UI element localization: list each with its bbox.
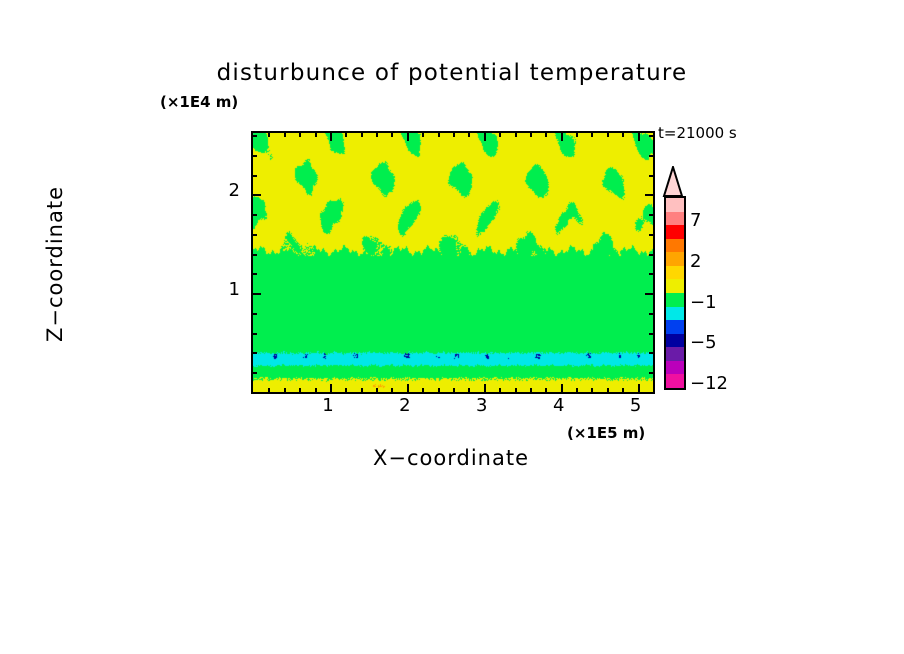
axis-tick	[252, 273, 257, 275]
axis-tick	[576, 132, 578, 137]
colorbar-tick-label: 2	[690, 251, 701, 272]
axis-tick	[561, 132, 563, 141]
axis-tick	[252, 214, 257, 216]
axis-tick	[284, 388, 286, 393]
colorbar-band	[666, 279, 684, 293]
axis-tick	[252, 175, 257, 177]
axis-tick	[649, 175, 654, 177]
axis-tick	[422, 388, 424, 393]
axis-tick	[330, 132, 332, 141]
colorbar-band	[666, 334, 684, 348]
axis-tick	[407, 132, 409, 141]
axis-tick	[407, 384, 409, 393]
axis-tick	[252, 372, 257, 374]
colorbar-band	[666, 252, 684, 266]
colorbar-band	[666, 266, 684, 280]
axis-tick	[645, 194, 654, 196]
axis-tick	[530, 388, 532, 393]
axis-tick	[607, 132, 609, 137]
axis-tick	[649, 313, 654, 315]
axis-tick	[376, 132, 378, 137]
colorbar-tick-label: 7	[690, 210, 701, 231]
x-axis-title: X−coordinate	[251, 446, 651, 470]
axis-tick	[530, 132, 532, 137]
axis-tick	[561, 384, 563, 393]
axis-tick	[576, 388, 578, 393]
axis-tick	[284, 132, 286, 137]
colorbar-band	[666, 320, 684, 334]
axis-tick	[268, 388, 270, 393]
axis-tick	[252, 313, 257, 315]
axis-tick	[468, 388, 470, 393]
page-title: disturbunce of potential temperature	[0, 60, 904, 86]
axis-tick	[252, 155, 257, 157]
axis-tick	[545, 388, 547, 393]
axis-tick	[345, 388, 347, 393]
axis-tick	[607, 388, 609, 393]
colorbar	[664, 196, 686, 390]
x-tick-label: 5	[621, 395, 651, 416]
colorbar-tick-label: −1	[690, 292, 717, 313]
axis-tick	[515, 388, 517, 393]
axis-tick	[591, 388, 593, 393]
axis-tick	[315, 388, 317, 393]
axis-tick	[638, 132, 640, 141]
colorbar-band	[666, 361, 684, 375]
axis-tick	[468, 132, 470, 137]
axis-tick	[649, 254, 654, 256]
axis-tick	[330, 384, 332, 393]
axis-tick	[438, 388, 440, 393]
colorbar-band	[666, 198, 684, 212]
axis-tick	[515, 132, 517, 137]
axis-tick	[638, 384, 640, 393]
axis-tick	[649, 273, 654, 275]
y-tick-label: 1	[218, 279, 240, 300]
axis-tick	[299, 388, 301, 393]
axis-tick	[649, 135, 654, 137]
axis-tick	[391, 388, 393, 393]
axis-tick	[252, 352, 257, 354]
axis-tick	[649, 352, 654, 354]
x-tick-label: 3	[467, 395, 497, 416]
colorbar-band	[666, 347, 684, 361]
colorbar-band	[666, 307, 684, 321]
contour-field-canvas	[253, 133, 653, 392]
axis-tick	[376, 388, 378, 393]
axis-tick	[422, 132, 424, 137]
colorbar-band	[666, 374, 684, 388]
colorbar-arrow-icon	[662, 166, 684, 197]
axis-tick	[649, 234, 654, 236]
axis-tick	[453, 388, 455, 393]
colorbar-band	[666, 239, 684, 253]
axis-tick	[252, 135, 257, 137]
colorbar-tick-label: −12	[690, 373, 728, 394]
time-annotation: t=21000 s	[658, 124, 737, 142]
axis-tick	[252, 293, 261, 295]
colorbar-band	[666, 293, 684, 307]
axis-tick	[649, 372, 654, 374]
axis-tick	[361, 388, 363, 393]
y-axis-title: Z−coordinate	[43, 134, 67, 394]
axis-tick	[252, 234, 257, 236]
axis-tick	[252, 254, 257, 256]
axis-tick	[268, 132, 270, 137]
axis-tick	[299, 132, 301, 137]
axis-tick	[315, 132, 317, 137]
y-tick-label: 2	[218, 180, 240, 201]
axis-tick	[438, 132, 440, 137]
axis-tick	[252, 194, 261, 196]
axis-tick	[391, 132, 393, 137]
axis-tick	[622, 388, 624, 393]
axis-tick	[591, 132, 593, 137]
z-axis-unit-label: (×1E4 m)	[160, 93, 238, 111]
axis-tick	[361, 132, 363, 137]
colorbar-tick-label: −5	[690, 332, 717, 353]
axis-tick	[499, 388, 501, 393]
x-tick-label: 1	[313, 395, 343, 416]
axis-tick	[499, 132, 501, 137]
x-axis-unit-label: (×1E5 m)	[567, 424, 645, 442]
axis-tick	[622, 132, 624, 137]
axis-tick	[649, 333, 654, 335]
axis-tick	[645, 293, 654, 295]
axis-tick	[649, 214, 654, 216]
axis-tick	[453, 132, 455, 137]
axis-tick	[484, 384, 486, 393]
colorbar-band	[666, 212, 684, 226]
x-tick-label: 2	[390, 395, 420, 416]
axis-tick	[252, 333, 257, 335]
contour-plot-area	[251, 131, 655, 394]
axis-tick	[484, 132, 486, 141]
colorbar-band	[666, 225, 684, 239]
axis-tick	[545, 132, 547, 137]
axis-tick	[345, 132, 347, 137]
x-tick-label: 4	[544, 395, 574, 416]
axis-tick	[649, 155, 654, 157]
